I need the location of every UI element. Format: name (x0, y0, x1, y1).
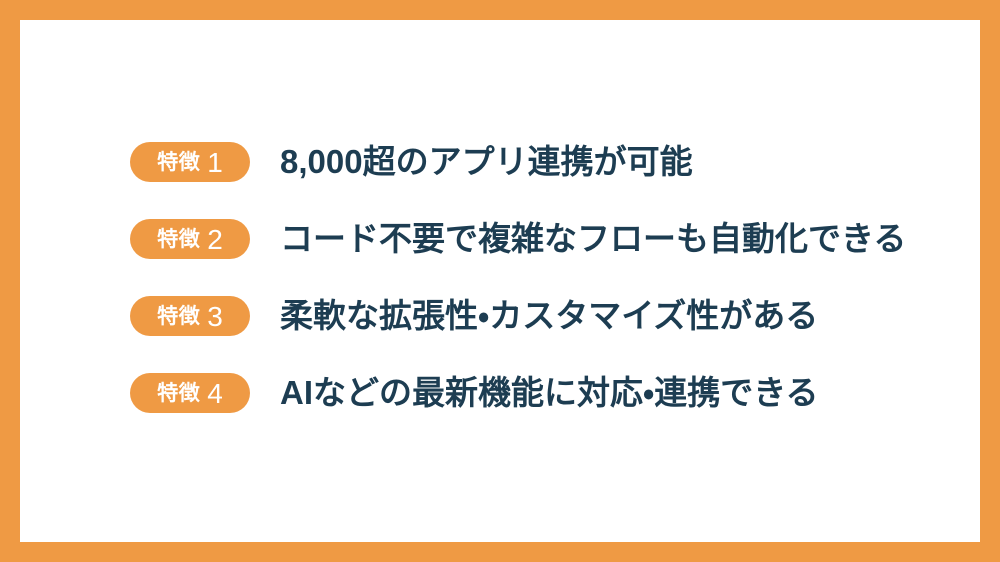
feature-text-4: AIなどの最新機能に対応・連携できる (280, 376, 819, 411)
feature-row: 特徴 1 8,000超のアプリ連携が可能 (130, 142, 920, 182)
feature-row: 特徴 2 コード不要で複雑なフローも自動化できる (130, 219, 920, 259)
feature-badge-number: 4 (207, 380, 223, 408)
feature-badge-number: 1 (207, 149, 223, 177)
feature-text-1: 8,000超のアプリ連携が可能 (280, 145, 693, 180)
feature-badge-1: 特徴 1 (130, 142, 250, 182)
slide-frame: 特徴 1 8,000超のアプリ連携が可能 特徴 2 コード不要で複雑なフローも自… (0, 0, 1000, 562)
slide-content-area: 特徴 1 8,000超のアプリ連携が可能 特徴 2 コード不要で複雑なフローも自… (20, 20, 980, 542)
feature-badge-number: 3 (207, 303, 223, 331)
feature-badge-label: 特徴 (157, 306, 200, 327)
feature-list: 特徴 1 8,000超のアプリ連携が可能 特徴 2 コード不要で複雑なフローも自… (130, 142, 920, 413)
feature-row: 特徴 4 AIなどの最新機能に対応・連携できる (130, 373, 920, 413)
feature-badge-label: 特徴 (157, 229, 200, 250)
feature-badge-label: 特徴 (157, 152, 200, 173)
feature-text-2: コード不要で複雑なフローも自動化できる (280, 222, 906, 257)
feature-badge-3: 特徴 3 (130, 296, 250, 336)
feature-badge-2: 特徴 2 (130, 219, 250, 259)
feature-badge-4: 特徴 4 (130, 373, 250, 413)
feature-badge-label: 特徴 (157, 383, 200, 404)
feature-row: 特徴 3 柔軟な拡張性・カスタマイズ性がある (130, 296, 920, 336)
feature-badge-number: 2 (207, 226, 223, 254)
feature-text-3: 柔軟な拡張性・カスタマイズ性がある (280, 299, 818, 334)
